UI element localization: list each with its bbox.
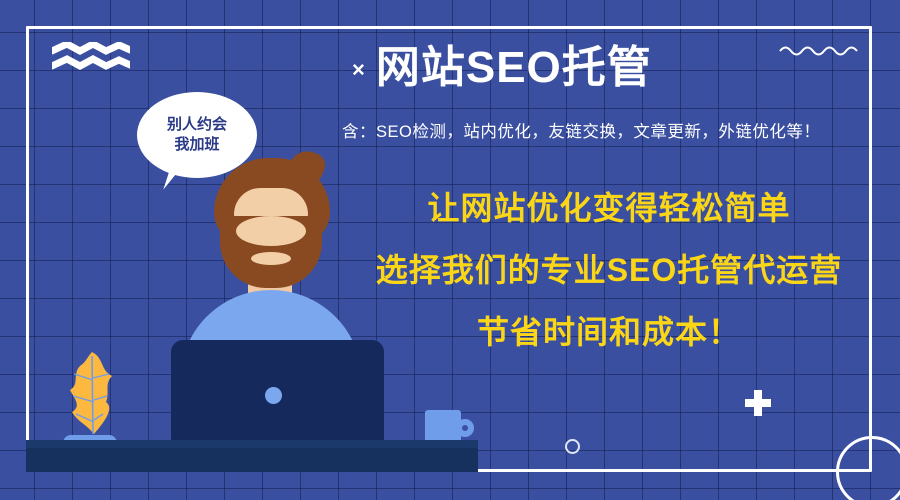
- plant-leaf-icon: [60, 350, 124, 442]
- seo-banner: ×网站SEO托管 含：SEO检测，站内优化，友链交换，文章更新，外链优化等！ 让…: [0, 0, 900, 500]
- wave-thin-icon: [778, 42, 866, 58]
- speech-bubble-line-1: 别人约会: [167, 115, 227, 135]
- corner-circle-icon: [836, 436, 900, 500]
- laptop-logo-icon: [265, 387, 282, 404]
- subtitle: 含：SEO检测，站内优化，友链交换，文章更新，外链优化等！: [342, 118, 820, 142]
- desk-surface: [26, 448, 478, 472]
- cheek-area: [236, 216, 306, 246]
- small-circle-icon: [565, 439, 580, 454]
- slogan-line-3: 节省时间和成本！: [344, 316, 874, 348]
- title-cross-icon: ×: [352, 57, 366, 82]
- plus-icon: [745, 390, 771, 416]
- title-text: 网站SEO托管: [376, 43, 652, 92]
- page-title: ×网站SEO托管: [352, 46, 652, 90]
- slogan-list: 让网站优化变得轻松简单 选择我们的专业SEO托管代运营 节省时间和成本！: [344, 192, 874, 348]
- wave-thick-icon: [52, 42, 130, 72]
- slogan-line-1: 让网站优化变得轻松简单: [344, 192, 874, 224]
- slogan-line-2: 选择我们的专业SEO托管代运营: [344, 254, 874, 286]
- mouth: [251, 252, 291, 265]
